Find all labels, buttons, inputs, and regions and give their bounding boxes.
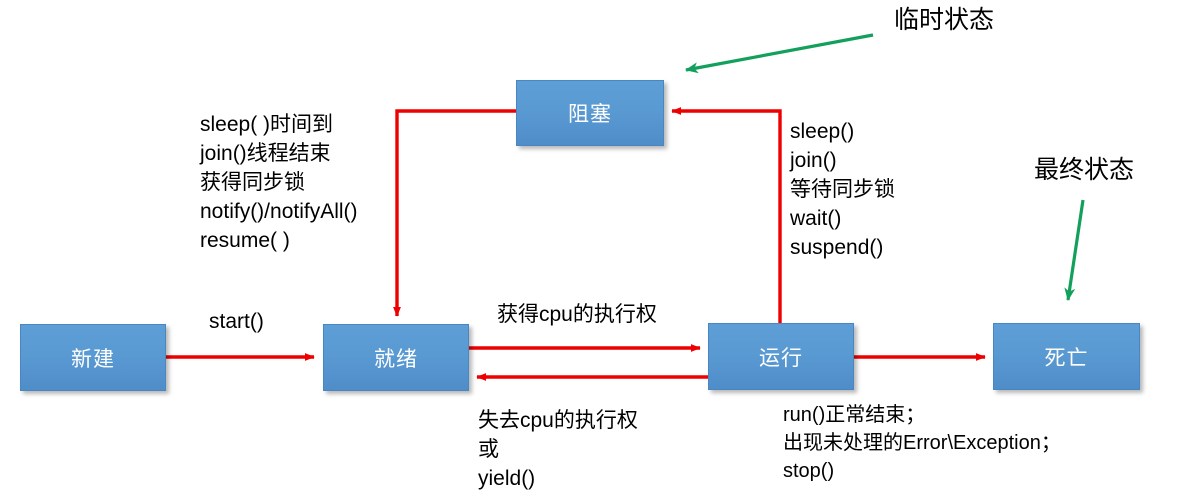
state-node-running[interactable]: 运行 bbox=[708, 323, 854, 390]
state-node-new[interactable]: 新建 bbox=[20, 324, 166, 391]
annotation-arrow-temporary bbox=[686, 35, 873, 70]
state-node-dead-label: 死亡 bbox=[1045, 342, 1089, 372]
state-node-new-label: 新建 bbox=[71, 343, 115, 373]
edge-blocked-to-ready bbox=[397, 111, 516, 316]
state-node-dead[interactable]: 死亡 bbox=[993, 323, 1140, 390]
edge-label-blocked-to-ready: sleep( )时间到 join()线程结束 获得同步锁 notify()/no… bbox=[200, 110, 358, 255]
thread-state-diagram: 新建 就绪 运行 死亡 阻塞 start() 获得cpu的执行权 sleep( … bbox=[0, 0, 1177, 503]
edge-label-lose-cpu: 失去cpu的执行权 或 yield() bbox=[478, 406, 638, 493]
state-node-running-label: 运行 bbox=[759, 342, 803, 372]
edge-label-get-cpu: 获得cpu的执行权 bbox=[497, 300, 657, 329]
edge-label-running-to-blocked: sleep() join() 等待同步锁 wait() suspend() bbox=[790, 117, 895, 262]
edge-label-start: start() bbox=[209, 307, 264, 336]
state-node-ready-label: 就绪 bbox=[374, 343, 418, 373]
annotation-final-state: 最终状态 bbox=[1034, 155, 1134, 185]
state-node-blocked[interactable]: 阻塞 bbox=[516, 80, 664, 146]
annotation-arrow-final bbox=[1068, 200, 1083, 300]
annotation-temporary-state: 临时状态 bbox=[894, 5, 994, 35]
edge-running-to-blocked bbox=[672, 111, 780, 323]
state-node-blocked-label: 阻塞 bbox=[568, 98, 612, 128]
edge-label-to-dead: run()正常结束； 出现未处理的Error\Exception； stop() bbox=[783, 401, 1061, 485]
state-node-ready[interactable]: 就绪 bbox=[323, 324, 469, 391]
